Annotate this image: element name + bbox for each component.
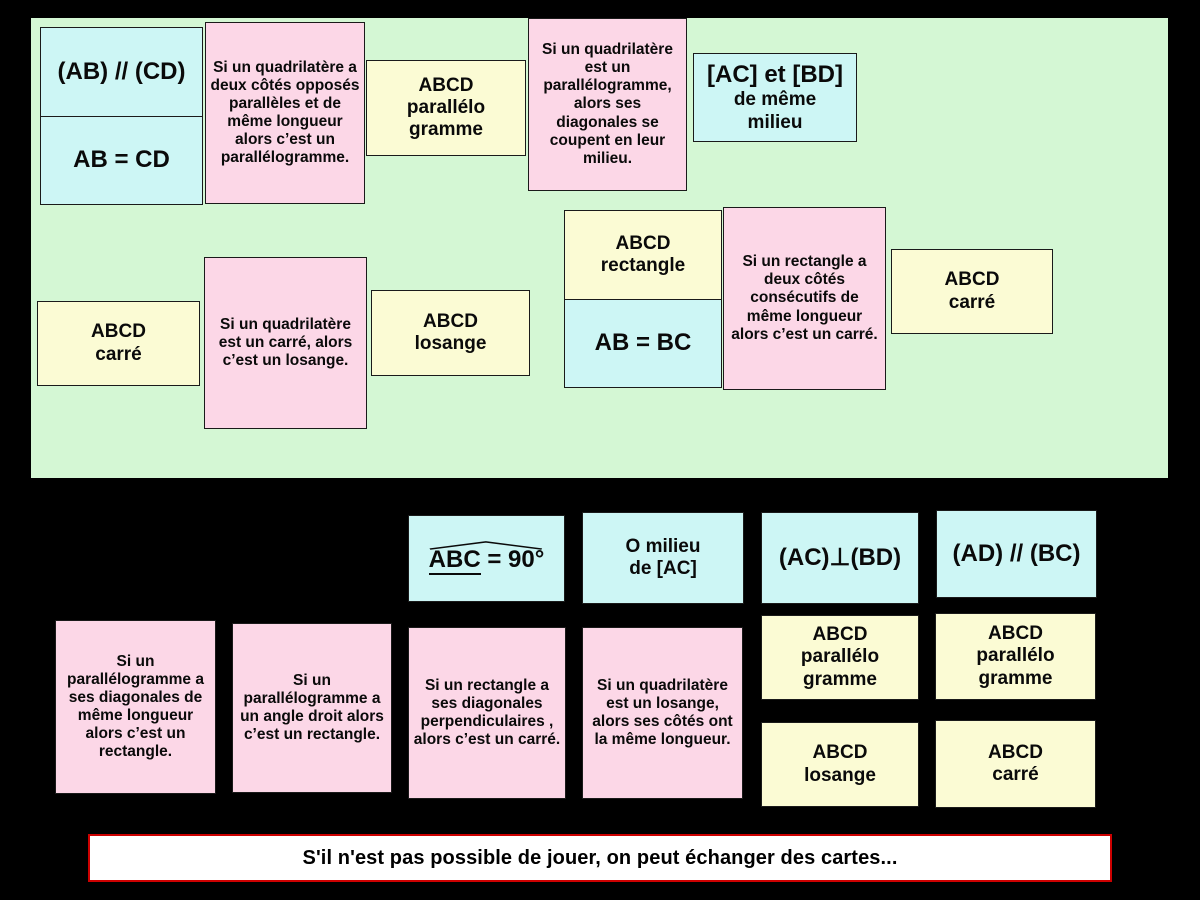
card-line-1: ABCD — [91, 321, 146, 343]
card-line-2: losange — [415, 333, 487, 355]
card-line-1: ABCD — [813, 742, 868, 764]
board-canvas: (AB) // (CD) AB = CD Si un quadrilatère … — [0, 0, 1200, 900]
card-line-1: ABCD — [945, 269, 1000, 291]
card-half-ab-bc: AB = BC — [565, 299, 721, 387]
card-conclusion-parallelogramme[interactable]: ABCD parallélo gramme — [366, 60, 526, 156]
card-conclusion-carre-right[interactable]: ABCD carré — [891, 249, 1053, 334]
card-line-2: losange — [804, 765, 876, 787]
hand-pink-card-4[interactable]: Si un quadrilatère est un losange, alors… — [582, 627, 743, 799]
card-line-2: parallélo — [407, 97, 485, 119]
card-line-2: parallélo — [976, 645, 1054, 667]
card-line-1: (AC)⊥(BD) — [779, 544, 901, 572]
card-conclusion-losange[interactable]: ABCD losange — [371, 290, 530, 376]
card-text: Si un rectangle a deux côtés consécutifs… — [728, 253, 881, 344]
green-play-area: (AB) // (CD) AB = CD Si un quadrilatère … — [31, 18, 1168, 478]
card-theorem-parallelogramme[interactable]: Si un quadrilatère a deux côtés opposés … — [205, 22, 365, 204]
hand-cream-card-parallelogramme-1[interactable]: ABCD parallélo gramme — [761, 615, 919, 700]
angle-value: = 90° — [481, 546, 545, 573]
card-line-3: gramme — [409, 119, 483, 141]
card-hypothesis-carre-left[interactable]: ABCD carré — [37, 301, 200, 386]
card-line-2: carré — [95, 344, 142, 366]
hand-blue-card-o-milieu[interactable]: O milieu de [AC] — [582, 512, 744, 604]
card-theorem-carre-losange[interactable]: Si un quadrilatère est un carré, alors c… — [204, 257, 367, 429]
card-half-rectangle: ABCD rectangle — [565, 211, 721, 299]
card-hypothesis-ab-cd[interactable]: (AB) // (CD) AB = CD — [40, 27, 203, 205]
card-line-1: ABCD — [419, 75, 474, 97]
card-hypothesis-rectangle-abbc[interactable]: ABCD rectangle AB = BC — [564, 210, 722, 388]
hand-cream-card-parallelogramme-2[interactable]: ABCD parallélo gramme — [935, 613, 1096, 700]
exchange-cards-banner: S'il n'est pas possible de jouer, on peu… — [88, 834, 1112, 882]
hand-blue-card-ac-perp-bd[interactable]: (AC)⊥(BD) — [761, 512, 919, 604]
hand-cream-card-carre[interactable]: ABCD carré — [935, 720, 1096, 808]
angle-notation: ABC = 90° — [429, 543, 545, 574]
angle-vertices: ABC — [429, 546, 481, 575]
card-text: Si un quadrilatère est un carré, alors c… — [209, 316, 362, 370]
card-line-2: de même — [734, 89, 816, 111]
card-line-2: carré — [992, 764, 1039, 786]
card-line-1: [AC] et [BD] — [707, 61, 843, 89]
card-conclusion-diagonales-milieu[interactable]: [AC] et [BD] de même milieu — [693, 53, 857, 142]
banner-message: S'il n'est pas possible de jouer, on peu… — [303, 847, 898, 870]
card-text: Si un rectangle a ses diagonales perpend… — [413, 677, 561, 750]
card-line-1: ABCD — [988, 742, 1043, 764]
card-line-2: parallélo — [801, 646, 879, 668]
card-line-1: (AD) // (BC) — [953, 540, 1081, 568]
card-line-2: AB = CD — [41, 116, 202, 204]
hand-blue-card-ad-para-bc[interactable]: (AD) // (BC) — [936, 510, 1097, 598]
hand-pink-card-1[interactable]: Si un parallélogramme a ses diagonales d… — [55, 620, 216, 794]
card-text: Si un quadrilatère est un losange, alors… — [587, 677, 738, 750]
card-line-1: O milieu — [626, 536, 701, 558]
card-line-1: ABCD — [988, 623, 1043, 645]
card-theorem-rectangle-carre[interactable]: Si un rectangle a deux côtés consécutifs… — [723, 207, 886, 390]
card-line-3: gramme — [979, 668, 1053, 690]
card-line-1: ABCD — [423, 311, 478, 333]
hand-blue-card-abc-90[interactable]: ABC = 90° — [408, 515, 565, 602]
hand-pink-card-3[interactable]: Si un rectangle a ses diagonales perpend… — [408, 627, 566, 799]
card-line-1: ABCD — [616, 233, 671, 255]
card-line-2: carré — [949, 292, 996, 314]
hand-cream-card-losange[interactable]: ABCD losange — [761, 722, 919, 807]
card-line-1: (AB) // (CD) — [41, 28, 202, 116]
card-line-2: de [AC] — [629, 558, 697, 580]
card-text: Si un quadrilatère est un parallélogramm… — [533, 41, 682, 168]
card-line-1: ABCD — [813, 624, 868, 646]
card-text: Si un parallélogramme a un angle droit a… — [237, 672, 387, 745]
hand-pink-card-2[interactable]: Si un parallélogramme a un angle droit a… — [232, 623, 392, 793]
card-line-3: milieu — [748, 112, 803, 134]
card-line-3: gramme — [803, 669, 877, 691]
card-text: Si un quadrilatère a deux côtés opposés … — [210, 59, 360, 168]
card-text: Si un parallélogramme a ses diagonales d… — [60, 653, 211, 762]
card-line-2: rectangle — [601, 255, 685, 277]
card-theorem-diagonales-milieu[interactable]: Si un quadrilatère est un parallélogramm… — [528, 18, 687, 191]
